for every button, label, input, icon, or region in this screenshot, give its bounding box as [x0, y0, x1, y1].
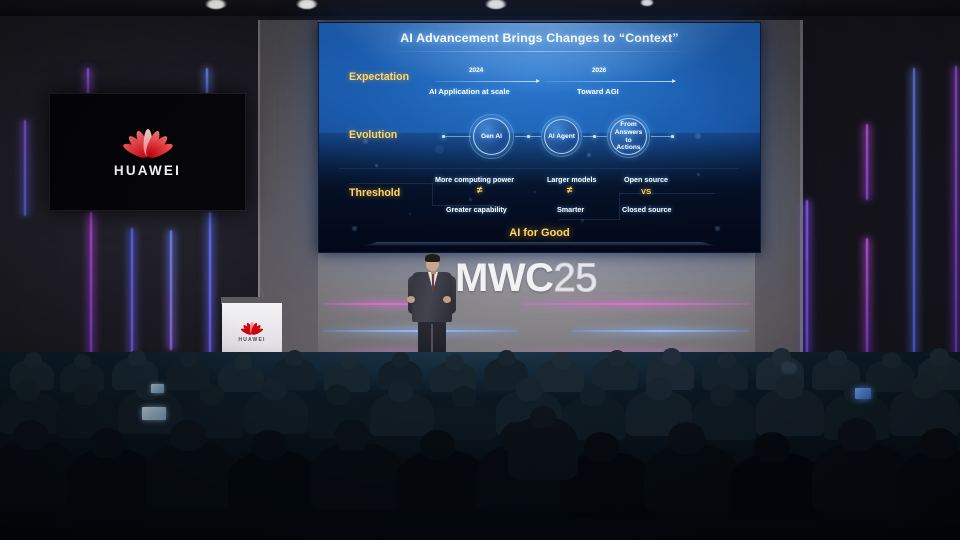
neon-strip-vertical — [806, 200, 808, 358]
slide-canvas: AI Advancement Brings Changes to “Contex… — [319, 23, 760, 252]
connector-node — [527, 135, 530, 138]
crouching-photographer-head — [530, 406, 556, 428]
audience-member — [326, 384, 350, 405]
threshold-bottom-text: Smarter — [557, 205, 584, 214]
audience-member — [446, 354, 464, 370]
audience-phone-screen — [783, 364, 795, 372]
threshold-top-text: Open source — [624, 175, 668, 184]
audience-member — [662, 348, 681, 365]
threshold-operator: VS — [641, 187, 651, 196]
audience-member — [262, 378, 287, 400]
neon-strip-vertical — [866, 124, 868, 200]
huawei-flower-icon — [121, 126, 175, 156]
threshold-bottom-text: Closed source — [622, 205, 672, 214]
neon-line-horizontal — [572, 330, 750, 332]
main-presentation-screen: AI Advancement Brings Changes to “Contex… — [318, 22, 761, 253]
audience-member — [776, 375, 803, 399]
audience-member — [580, 384, 605, 406]
mwc-year-text: 25 — [553, 256, 597, 300]
milestone-caption: Toward AGI — [577, 87, 619, 96]
neon-strip-vertical — [206, 68, 208, 96]
circuit-trace — [619, 193, 620, 219]
audience-member — [646, 377, 672, 400]
bokeh-dot — [409, 213, 411, 215]
audience-member — [710, 384, 735, 406]
audience-member — [608, 350, 626, 366]
podium-wordmark: HUAWEI — [238, 337, 265, 343]
audience-member — [838, 418, 876, 451]
keynote-scene: HUAWEI — [0, 0, 960, 540]
bokeh-dot — [375, 164, 378, 167]
speaker-hair — [425, 254, 440, 262]
audience-phone-screen — [855, 388, 871, 399]
circuit-trace — [339, 168, 739, 169]
neon-strip-vertical — [209, 212, 211, 358]
row-label-evolution: Evolution — [349, 129, 397, 141]
threshold-top-text: Larger models — [547, 175, 597, 184]
huawei-flower-icon — [240, 321, 264, 334]
threshold-operator: ≠ — [567, 185, 573, 196]
audience-phone-screen — [151, 384, 164, 393]
circuit-trace — [559, 219, 621, 220]
evolution-node-label: AI Agent — [548, 133, 575, 141]
circuit-trace — [432, 183, 433, 205]
audience-member — [340, 354, 358, 369]
audience-member — [584, 432, 619, 462]
audience-member — [828, 350, 847, 366]
milestone-year: 2026 — [592, 67, 606, 74]
bokeh-dot — [469, 198, 472, 201]
neon-line-horizontal — [522, 303, 750, 305]
mwc-bold-text: MWC — [455, 256, 553, 300]
circuit-trace — [619, 193, 715, 194]
timeline-arrow — [545, 81, 675, 82]
bokeh-dot — [697, 173, 700, 176]
title-divider — [390, 51, 690, 52]
neon-strip-vertical — [24, 120, 26, 216]
bokeh-dot — [587, 153, 591, 157]
audience-phone-screen — [142, 407, 166, 420]
neon-strip-vertical — [90, 212, 92, 358]
audience-member — [552, 352, 571, 369]
audience-member — [896, 450, 960, 518]
audience-member — [730, 452, 824, 518]
evolution-node-label: Gen AI — [481, 133, 502, 141]
audience-member — [452, 386, 476, 407]
audience-member — [74, 354, 91, 369]
milestone-year: 2024 — [469, 67, 483, 74]
audience-member — [24, 352, 42, 368]
bokeh-dot — [695, 133, 701, 139]
audience-member — [912, 374, 939, 398]
audience-member — [920, 428, 957, 459]
audience-member — [128, 350, 146, 366]
audience-member — [388, 380, 413, 402]
bokeh-dot — [534, 191, 536, 193]
threshold-bottom-text: Greater capability — [446, 205, 507, 214]
circuit-trace — [349, 183, 433, 184]
audience-member — [234, 354, 252, 370]
threshold-top-text: More computing power — [435, 175, 514, 184]
audience-member — [392, 352, 409, 367]
evolution-node-3: From Answers to Actions — [610, 118, 647, 155]
audience-member — [14, 420, 48, 450]
slide-title: AI Advancement Brings Changes to “Contex… — [319, 31, 760, 45]
audience-member — [644, 444, 740, 512]
evolution-node-label: From Answers to Actions — [611, 121, 646, 152]
huawei-wordmark: HUAWEI — [114, 163, 181, 178]
slide-footer-text: AI for Good — [319, 227, 760, 239]
audience-member — [310, 442, 404, 510]
speaker-left-hand — [407, 296, 415, 303]
bokeh-dot — [435, 145, 444, 154]
neon-strip-vertical — [87, 68, 89, 96]
neon-strip-vertical — [866, 238, 868, 358]
audience-member — [772, 348, 791, 365]
audience-member — [498, 350, 515, 366]
timeline-arrow — [435, 81, 539, 82]
connector-node — [593, 135, 596, 138]
audience-member — [16, 380, 40, 401]
audience-member — [180, 352, 197, 367]
evolution-node-2: AI Agent — [544, 119, 579, 154]
audience-member — [516, 378, 542, 401]
connector-node — [671, 135, 674, 138]
threshold-operator: ≠ — [477, 185, 483, 196]
speaker-right-hand — [443, 296, 451, 303]
row-label-threshold: Threshold — [349, 187, 400, 199]
audience-member — [170, 420, 206, 451]
row-label-expectation: Expectation — [349, 71, 409, 83]
audience-member — [930, 348, 949, 365]
audience-member — [252, 430, 287, 460]
audience-member — [420, 430, 455, 460]
audience-member — [754, 432, 790, 462]
audience-member — [718, 352, 736, 368]
evolution-node-1: Gen AI — [473, 118, 510, 155]
neon-strip-vertical — [170, 230, 172, 350]
huawei-logo-screen: HUAWEI — [49, 93, 246, 211]
neon-strip-vertical — [913, 68, 915, 358]
audience-member — [334, 420, 370, 451]
neon-strip-vertical — [955, 66, 957, 362]
connector-line — [651, 136, 673, 137]
audience-member — [668, 422, 705, 454]
audience-member — [146, 442, 238, 508]
audience-member — [74, 384, 98, 405]
mwc25-wall-logo: MWC25 — [455, 258, 597, 298]
audience-member — [286, 350, 303, 366]
milestone-caption: AI Application at scale — [429, 87, 510, 96]
slide-footer-bar — [363, 242, 716, 246]
connector-line — [445, 136, 471, 137]
audience-member — [200, 384, 224, 405]
audience-member — [90, 428, 124, 458]
audience-member — [882, 352, 901, 368]
neon-strip-vertical — [131, 228, 133, 358]
